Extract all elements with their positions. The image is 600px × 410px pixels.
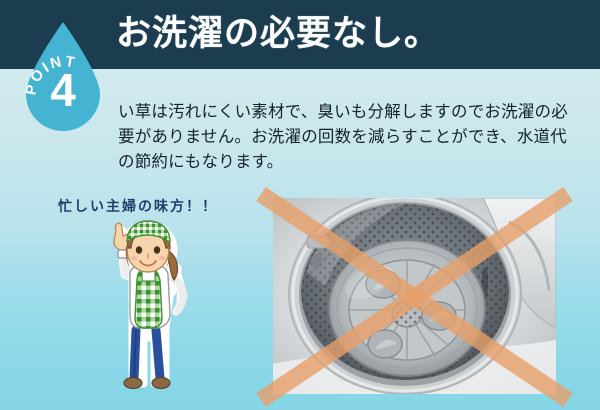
body-paragraph: い草は汚れにくい素材で、臭いも分解しますのでお洗濯の必要がありません。お洗濯の回…	[118, 99, 580, 174]
point-number: 4	[22, 67, 104, 113]
housewife-illustration	[92, 218, 204, 400]
washing-machine-photo	[273, 198, 556, 394]
page-title: お洗濯の必要なし。	[116, 12, 440, 56]
promo-banner: お洗濯の必要なし。 POINT 4 い草は汚れにくい素材で、臭いも分解しますので…	[0, 0, 600, 410]
point-badge: POINT 4	[22, 21, 104, 133]
catch-copy-text: 忙しい主婦の味方！！	[58, 196, 218, 216]
